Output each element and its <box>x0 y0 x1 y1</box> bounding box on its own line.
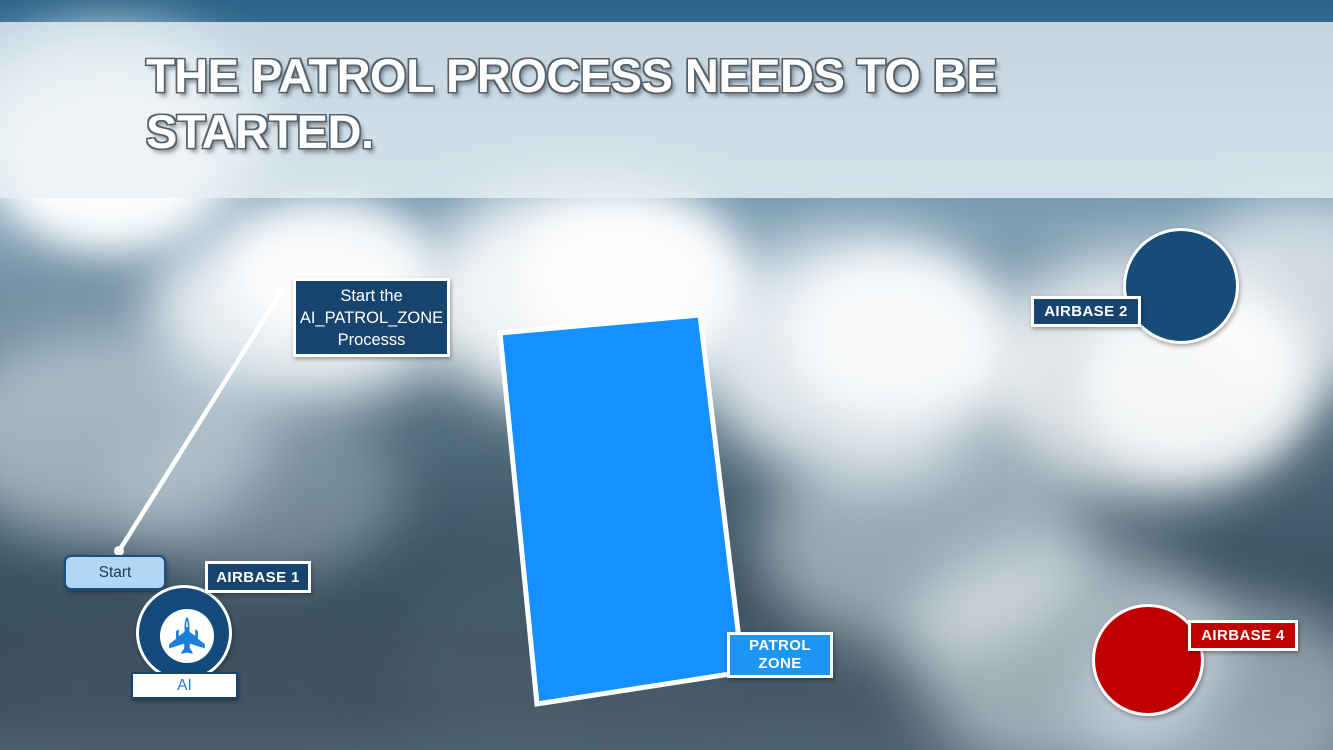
process-callout-line1: Start the <box>300 285 443 307</box>
label-ai-text: AI <box>177 677 192 695</box>
label-patrol-zone-line1: PATROL <box>749 637 811 655</box>
node-ai-airbase-1[interactable] <box>136 585 232 681</box>
process-callout-line2: AI_PATROL_ZONE <box>300 307 443 329</box>
label-airbase-2[interactable]: AIRBASE 2 <box>1031 296 1141 327</box>
label-airbase-4[interactable]: AIRBASE 4 <box>1188 620 1298 651</box>
jet-icon-disc <box>160 609 214 663</box>
presentation-slide: THE PATROL PROCESS NEEDS TO BE STARTED. … <box>0 0 1333 750</box>
process-callout[interactable]: Start the AI_PATROL_ZONE Processs <box>293 278 450 357</box>
fighter-jet-icon <box>165 614 209 658</box>
start-button-label: Start <box>99 564 132 582</box>
page-title: THE PATROL PROCESS NEEDS TO BE STARTED. <box>146 48 1146 160</box>
label-patrol-zone-line2: ZONE <box>749 655 811 673</box>
label-ai[interactable]: AI <box>131 672 238 699</box>
label-airbase-4-text: AIRBASE 4 <box>1201 627 1285 644</box>
start-button[interactable]: Start <box>64 555 166 590</box>
label-airbase-1[interactable]: AIRBASE 1 <box>205 561 311 593</box>
label-patrol-zone[interactable]: PATROL ZONE <box>727 632 833 678</box>
label-airbase-1-text: AIRBASE 1 <box>216 569 300 586</box>
label-airbase-2-text: AIRBASE 2 <box>1044 303 1128 320</box>
process-callout-line3: Processs <box>300 329 443 351</box>
